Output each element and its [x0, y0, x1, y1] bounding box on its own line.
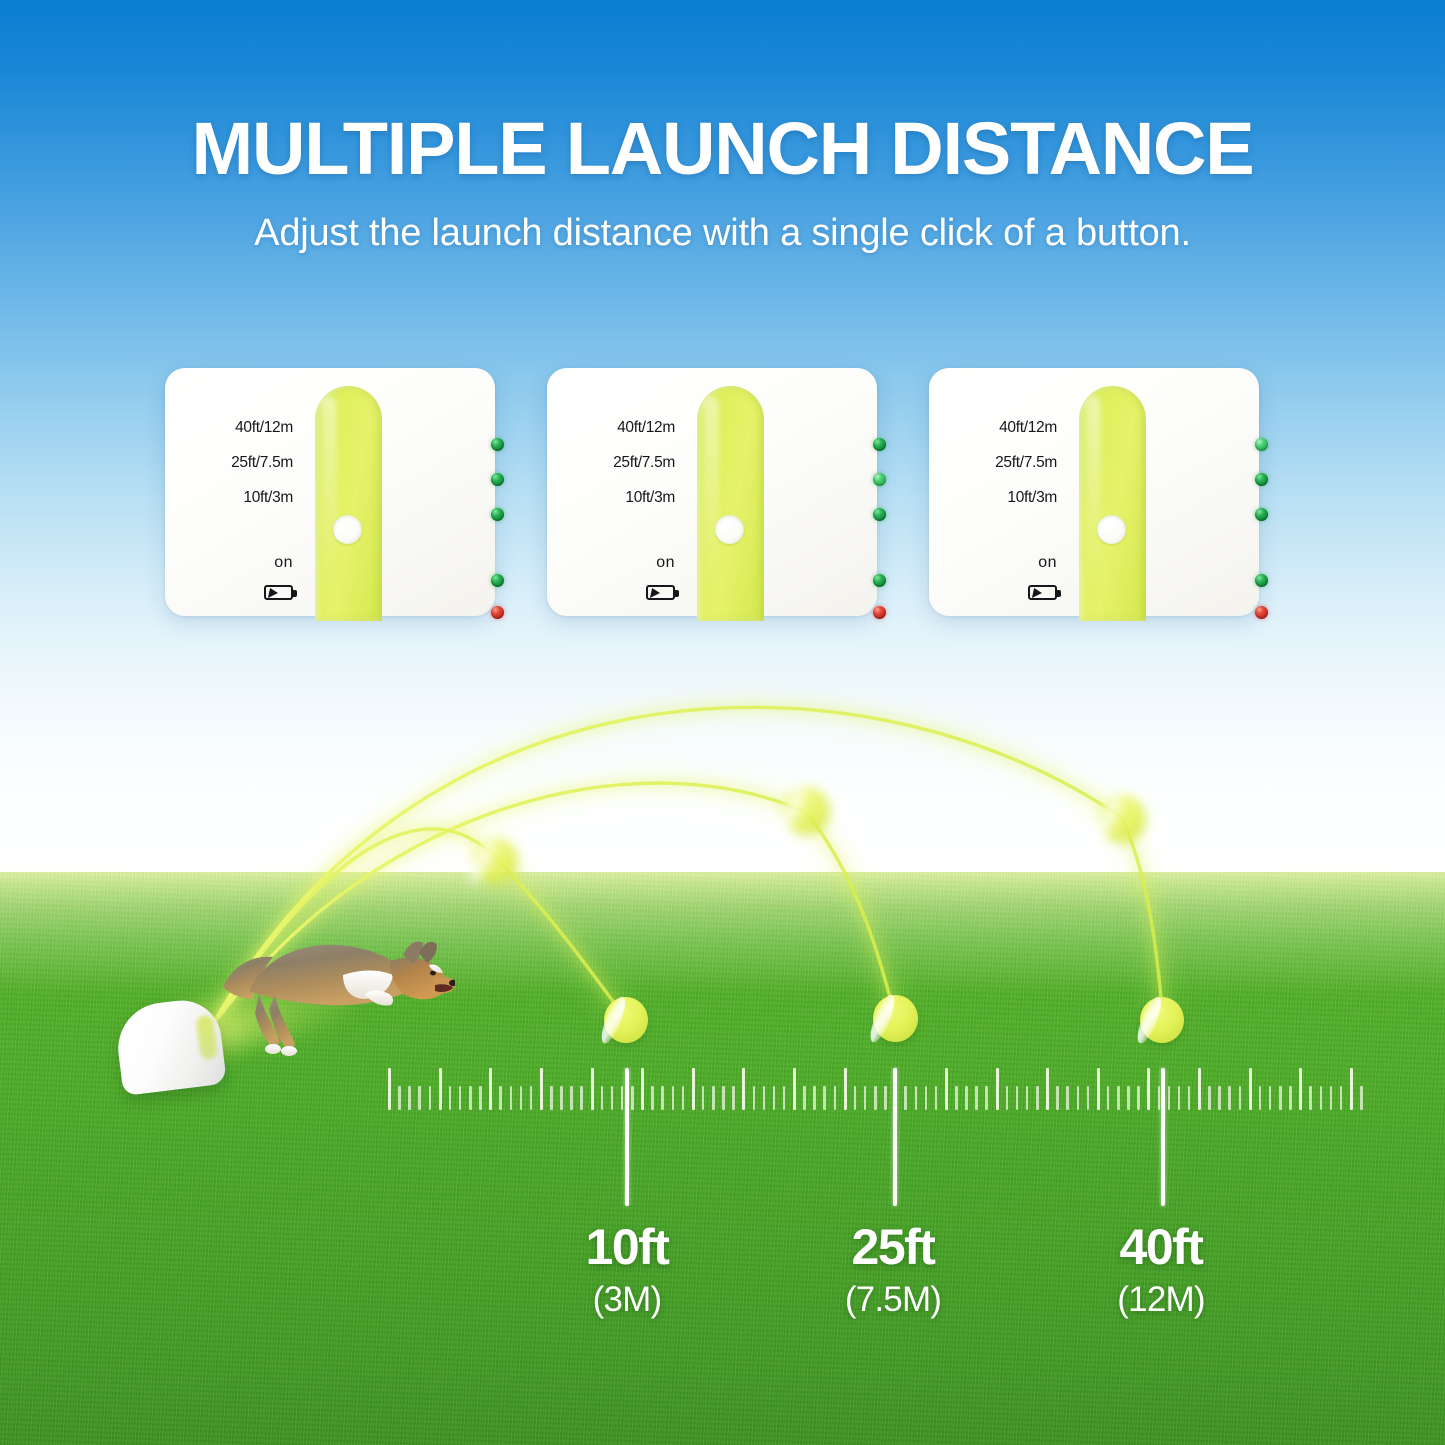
ruler-tick-minor — [783, 1086, 786, 1110]
distance-label-40ft: 40ft (12M) — [1061, 1222, 1261, 1322]
battery-charging-icon — [1028, 585, 1057, 600]
label-10ft: 10ft/3m — [243, 489, 293, 507]
ruler-tick-minor — [1289, 1086, 1292, 1110]
ruler-tick-minor — [621, 1086, 624, 1110]
ruler-tick-major — [439, 1068, 442, 1110]
label-10ft: 10ft/3m — [1007, 489, 1057, 507]
mode-button-10ft[interactable] — [333, 515, 362, 544]
ruler-tick-minor — [560, 1086, 563, 1110]
ruler-tick-major — [793, 1068, 796, 1110]
distance-meters-10ft: (3M) — [527, 1278, 727, 1322]
control-panel-10ft[interactable]: 40ft/12m 25ft/7.5m 10ft/3m on — [165, 368, 495, 616]
ruler-tick-minor — [732, 1086, 735, 1110]
ruler-tick-minor — [1178, 1086, 1181, 1110]
ruler-tick-minor — [1269, 1086, 1272, 1110]
ruler-tick-minor — [753, 1086, 756, 1110]
ruler-tick-minor — [1279, 1086, 1282, 1110]
label-25ft: 25ft/7.5m — [613, 454, 675, 472]
ruler-tick-major — [1350, 1068, 1353, 1110]
ball-in-flight-25ft — [782, 787, 830, 835]
label-40ft: 40ft/12m — [617, 419, 675, 437]
ruler-tick-minor — [651, 1086, 654, 1110]
distance-label-10ft: 10ft (3M) — [527, 1222, 727, 1322]
label-power-on: on — [1038, 554, 1057, 572]
led-40ft — [491, 438, 504, 451]
battery-charging-icon — [646, 585, 675, 600]
distance-feet-25ft: 25ft — [793, 1222, 993, 1272]
mode-button-25ft[interactable] — [715, 515, 744, 544]
led-battery — [1255, 606, 1268, 619]
ruler-tick-minor — [1117, 1086, 1120, 1110]
ruler-tick-minor — [904, 1086, 907, 1110]
ruler-tick-minor — [1016, 1086, 1019, 1110]
control-panel-cards: 40ft/12m 25ft/7.5m 10ft/3m on 40ft/12m 2… — [0, 368, 1445, 618]
ruler-tick-minor — [449, 1086, 452, 1110]
ruler-tick-minor — [520, 1086, 523, 1110]
ruler-tick-minor — [884, 1086, 887, 1110]
distance-label-25ft: 25ft (7.5M) — [793, 1222, 993, 1322]
ruler-tick-major — [742, 1068, 745, 1110]
marker-line-40ft — [1161, 1068, 1165, 1206]
ruler-tick-minor — [631, 1086, 634, 1110]
ruler-tick-minor — [1330, 1086, 1333, 1110]
ruler-tick-minor — [510, 1086, 513, 1110]
ruler-tick-minor — [1158, 1086, 1161, 1110]
panel-labels-10ft: 40ft/12m 25ft/7.5m 10ft/3m on — [165, 368, 315, 616]
panel-labels-25ft: 40ft/12m 25ft/7.5m 10ft/3m on — [547, 368, 697, 616]
control-panel-25ft[interactable]: 40ft/12m 25ft/7.5m 10ft/3m on — [547, 368, 877, 616]
label-power-on: on — [656, 554, 675, 572]
led-battery — [873, 606, 886, 619]
ruler-tick-major — [540, 1068, 543, 1110]
ruler-tick-major — [388, 1068, 391, 1110]
led-10ft — [873, 508, 886, 521]
ruler-tick-minor — [1026, 1086, 1029, 1110]
led-10ft — [1255, 508, 1268, 521]
led-power — [491, 574, 504, 587]
ruler-tick-minor — [661, 1086, 664, 1110]
ruler-tick-minor — [1208, 1086, 1211, 1110]
ruler-tick-minor — [1107, 1086, 1110, 1110]
distance-feet-40ft: 40ft — [1061, 1222, 1261, 1272]
ruler-tick-minor — [702, 1086, 705, 1110]
led-power — [873, 574, 886, 587]
ruler-tick-minor — [530, 1086, 533, 1110]
ruler-tick-major — [844, 1068, 847, 1110]
panel-labels-40ft: 40ft/12m 25ft/7.5m 10ft/3m on — [929, 368, 1079, 616]
ruler-tick-minor — [1259, 1086, 1262, 1110]
ruler-tick-minor — [1006, 1086, 1009, 1110]
label-40ft: 40ft/12m — [235, 419, 293, 437]
led-25ft — [491, 473, 504, 486]
distance-feet-10ft: 10ft — [527, 1222, 727, 1272]
ball-landed-40ft — [1140, 997, 1184, 1043]
ruler-tick-minor — [915, 1086, 918, 1110]
distance-meters-25ft: (7.5M) — [793, 1278, 993, 1322]
page-subtitle: Adjust the launch distance with a single… — [0, 212, 1445, 255]
ruler-tick-minor — [1168, 1086, 1171, 1110]
ruler-tick-minor — [1309, 1086, 1312, 1110]
ruler-tick-minor — [874, 1086, 877, 1110]
ruler-tick-major — [692, 1068, 695, 1110]
ruler-tick-minor — [601, 1086, 604, 1110]
ruler-tick-minor — [1077, 1086, 1080, 1110]
ruler-tick-major — [1046, 1068, 1049, 1110]
ruler-tick-minor — [763, 1086, 766, 1110]
ruler-tick-minor — [429, 1086, 432, 1110]
ruler-tick-minor — [570, 1086, 573, 1110]
distance-ruler — [388, 1068, 1360, 1110]
ruler-tick-minor — [975, 1086, 978, 1110]
jumping-dog — [215, 925, 455, 1060]
dog-paw-rear-near — [281, 1046, 297, 1056]
ruler-tick-major — [641, 1068, 644, 1110]
ruler-tick-minor — [985, 1086, 988, 1110]
ruler-tick-minor — [459, 1086, 462, 1110]
ruler-tick-minor — [1137, 1086, 1140, 1110]
product-infographic-scene: MULTIPLE LAUNCH DISTANCE Adjust the laun… — [0, 0, 1445, 1445]
ruler-tick-minor — [854, 1086, 857, 1110]
ruler-tick-minor — [408, 1086, 411, 1110]
ruler-tick-minor — [823, 1086, 826, 1110]
ruler-tick-minor — [935, 1086, 938, 1110]
led-power — [1255, 574, 1268, 587]
ruler-tick-major — [996, 1068, 999, 1110]
ruler-tick-minor — [1188, 1086, 1191, 1110]
ruler-tick-major — [591, 1068, 594, 1110]
ruler-tick-minor — [864, 1086, 867, 1110]
led-25ft — [1255, 473, 1268, 486]
ruler-tick-minor — [1228, 1086, 1231, 1110]
ball-in-flight-40ft — [1098, 795, 1146, 843]
ruler-tick-minor — [479, 1086, 482, 1110]
led-25ft — [873, 473, 886, 486]
ruler-tick-minor — [1340, 1086, 1343, 1110]
panel-strip-10ft — [315, 386, 382, 621]
control-panel-40ft[interactable]: 40ft/12m 25ft/7.5m 10ft/3m on — [929, 368, 1259, 616]
ruler-tick-minor — [965, 1086, 968, 1110]
label-40ft: 40ft/12m — [999, 419, 1057, 437]
ruler-tick-minor — [722, 1086, 725, 1110]
ruler-tick-major — [1299, 1068, 1302, 1110]
ruler-tick-minor — [803, 1086, 806, 1110]
ruler-tick-minor — [1066, 1086, 1069, 1110]
distance-meters-40ft: (12M) — [1061, 1278, 1261, 1322]
ruler-tick-major — [1147, 1068, 1150, 1110]
ruler-tick-minor — [1056, 1086, 1059, 1110]
ruler-tick-minor — [925, 1086, 928, 1110]
marker-line-25ft — [893, 1068, 897, 1206]
panel-strip-40ft — [1079, 386, 1146, 621]
ruler-tick-minor — [1218, 1086, 1221, 1110]
battery-charging-icon — [264, 585, 293, 600]
ruler-tick-major — [945, 1068, 948, 1110]
ruler-tick-minor — [499, 1086, 502, 1110]
ruler-tick-minor — [672, 1086, 675, 1110]
ruler-tick-minor — [1239, 1086, 1242, 1110]
mode-button-40ft[interactable] — [1097, 515, 1126, 544]
ruler-tick-minor — [469, 1086, 472, 1110]
ruler-tick-minor — [580, 1086, 583, 1110]
ball-in-flight-10ft — [472, 838, 518, 884]
ball-landed-10ft — [604, 997, 648, 1043]
led-10ft — [491, 508, 504, 521]
ruler-tick-minor — [611, 1086, 614, 1110]
panel-strip-25ft — [697, 386, 764, 621]
ball-landed-25ft — [873, 995, 918, 1042]
label-25ft: 25ft/7.5m — [995, 454, 1057, 472]
ruler-tick-minor — [418, 1086, 421, 1110]
led-battery — [491, 606, 504, 619]
ruler-tick-major — [1198, 1068, 1201, 1110]
label-10ft: 10ft/3m — [625, 489, 675, 507]
ruler-tick-minor — [550, 1086, 553, 1110]
ruler-tick-minor — [1087, 1086, 1090, 1110]
label-25ft: 25ft/7.5m — [231, 454, 293, 472]
header: MULTIPLE LAUNCH DISTANCE Adjust the laun… — [0, 112, 1445, 255]
page-title: MULTIPLE LAUNCH DISTANCE — [0, 112, 1445, 186]
ruler-tick-minor — [773, 1086, 776, 1110]
marker-line-10ft — [625, 1068, 629, 1206]
ruler-tick-minor — [955, 1086, 958, 1110]
led-40ft — [873, 438, 886, 451]
ruler-tick-minor — [1320, 1086, 1323, 1110]
ruler-tick-minor — [813, 1086, 816, 1110]
ruler-tick-major — [489, 1068, 492, 1110]
dog-paw-rear-far — [265, 1044, 281, 1054]
ruler-tick-minor — [712, 1086, 715, 1110]
ruler-tick-minor — [1036, 1086, 1039, 1110]
ruler-tick-minor — [1127, 1086, 1130, 1110]
ruler-tick-major — [1249, 1068, 1252, 1110]
ruler-tick-major — [1097, 1068, 1100, 1110]
ruler-tick-minor — [682, 1086, 685, 1110]
ruler-tick-minor — [1360, 1086, 1363, 1110]
ruler-tick-minor — [834, 1086, 837, 1110]
led-40ft — [1255, 438, 1268, 451]
ruler-tick-minor — [398, 1086, 401, 1110]
label-power-on: on — [274, 554, 293, 572]
